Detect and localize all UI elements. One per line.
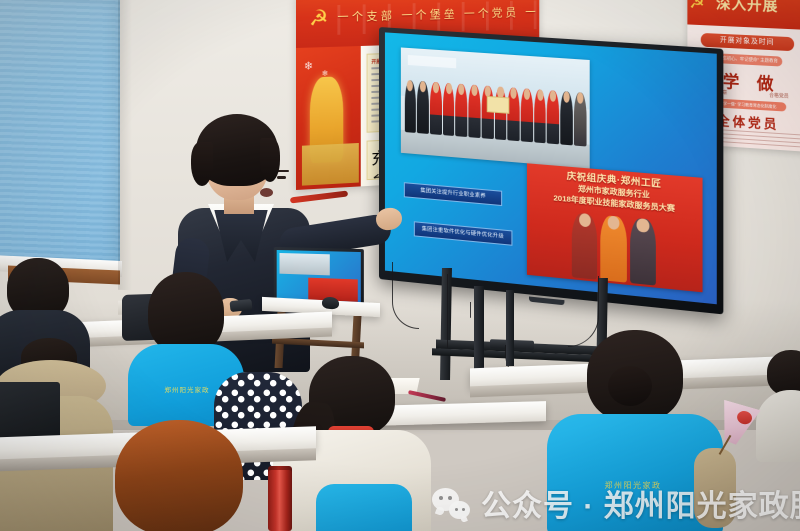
- photo-person: [469, 84, 481, 138]
- stage-figure: [601, 215, 627, 283]
- stage-figure: [572, 212, 598, 280]
- dove-icon: ❄: [304, 59, 313, 72]
- window-blind: [0, 0, 120, 266]
- wechat-icon: [432, 488, 470, 519]
- certificate-prop: [486, 96, 509, 114]
- attendee-blue-vest: [316, 484, 412, 531]
- av-cable: [470, 302, 471, 318]
- hammer-sickle-icon: ☭: [306, 5, 332, 32]
- vest-text: 郑州阳光家政: [570, 480, 696, 491]
- attendee-head: [115, 420, 243, 531]
- slide-award-photo: 庆祝组庆典·郑州工匠 郑州市家政服务行业 2018年度职业技能家政服务员大赛: [527, 163, 703, 293]
- tv-stand-post-left: [440, 268, 452, 380]
- poster-sub-right: 合格党员: [769, 92, 789, 100]
- laptop-screen-content: [277, 250, 361, 305]
- speaker-hair-right: [260, 138, 280, 182]
- stand-vertical-post: [474, 286, 484, 372]
- photo-person: [534, 89, 546, 143]
- award-banner-text: 庆祝组庆典·郑州工匠 郑州市家政服务行业 2018年度职业技能家政服务员大赛: [530, 168, 699, 217]
- photo-person: [417, 81, 429, 134]
- tv-bezel: 庆祝组庆典·郑州工匠 郑州市家政服务行业 2018年度职业技能家政服务员大赛 集…: [379, 27, 723, 314]
- photo-person: [560, 91, 572, 146]
- attendee-torso: [756, 390, 800, 462]
- wall-corner-edge: [118, 0, 132, 290]
- award-stage-figures: [572, 212, 656, 286]
- slide-group-photo: [401, 48, 590, 169]
- photo-person: [508, 87, 520, 141]
- photo-person: [430, 81, 442, 135]
- slide-bullet-2: 集团注重软件优化与硬件优化升级: [413, 221, 512, 246]
- photo-person: [574, 92, 586, 147]
- attendee-head: [148, 272, 224, 354]
- photo-canvas: ☭ 一个支部 一个堡垒 一个党员 一面旗帜 ❄ ❄ 开展 "党建" 推动主题教育…: [0, 0, 800, 531]
- stage-figure: [630, 217, 656, 286]
- computer-mouse[interactable]: [322, 297, 339, 310]
- presentation-display[interactable]: 庆祝组庆典·郑州工匠 郑州市家政服务行业 2018年度职业技能家政服务员大赛 集…: [379, 27, 723, 314]
- photo-person: [547, 90, 559, 145]
- speaker-mouth: [260, 188, 273, 197]
- av-cable: [447, 274, 448, 348]
- photo-person: [443, 82, 455, 136]
- attendee-blue-vest-2: 郑州阳光家政: [546, 330, 724, 531]
- vest-text: 郑州阳光家政: [150, 384, 224, 394]
- red-thermos: [268, 470, 292, 531]
- attendee-far-right: [756, 350, 800, 460]
- attendee-hair-bun: [608, 366, 652, 406]
- slide-bullet-1: 集团关注提升行业职业素养: [404, 182, 503, 206]
- attendee-head: [767, 350, 800, 396]
- laptop-slide-photo-top: [280, 253, 330, 275]
- attendee-auburn-hair: [104, 420, 254, 531]
- photo-person: [456, 83, 468, 137]
- photo-person: [521, 88, 533, 142]
- stand-vertical-post-2: [506, 290, 514, 366]
- hammer-sickle-icon: ☭: [689, 0, 704, 13]
- tv-screen[interactable]: 庆祝组庆典·郑州工匠 郑州市家政服务行业 2018年度职业技能家政服务员大赛 集…: [385, 32, 717, 304]
- speaker-eye-right: [277, 176, 286, 179]
- photo-person: [404, 80, 416, 133]
- red-pointer-stick: [290, 190, 348, 203]
- poster-right-banner: ☭ 深入开展: [687, 0, 800, 30]
- poster-right-title: 深入开展: [716, 0, 778, 16]
